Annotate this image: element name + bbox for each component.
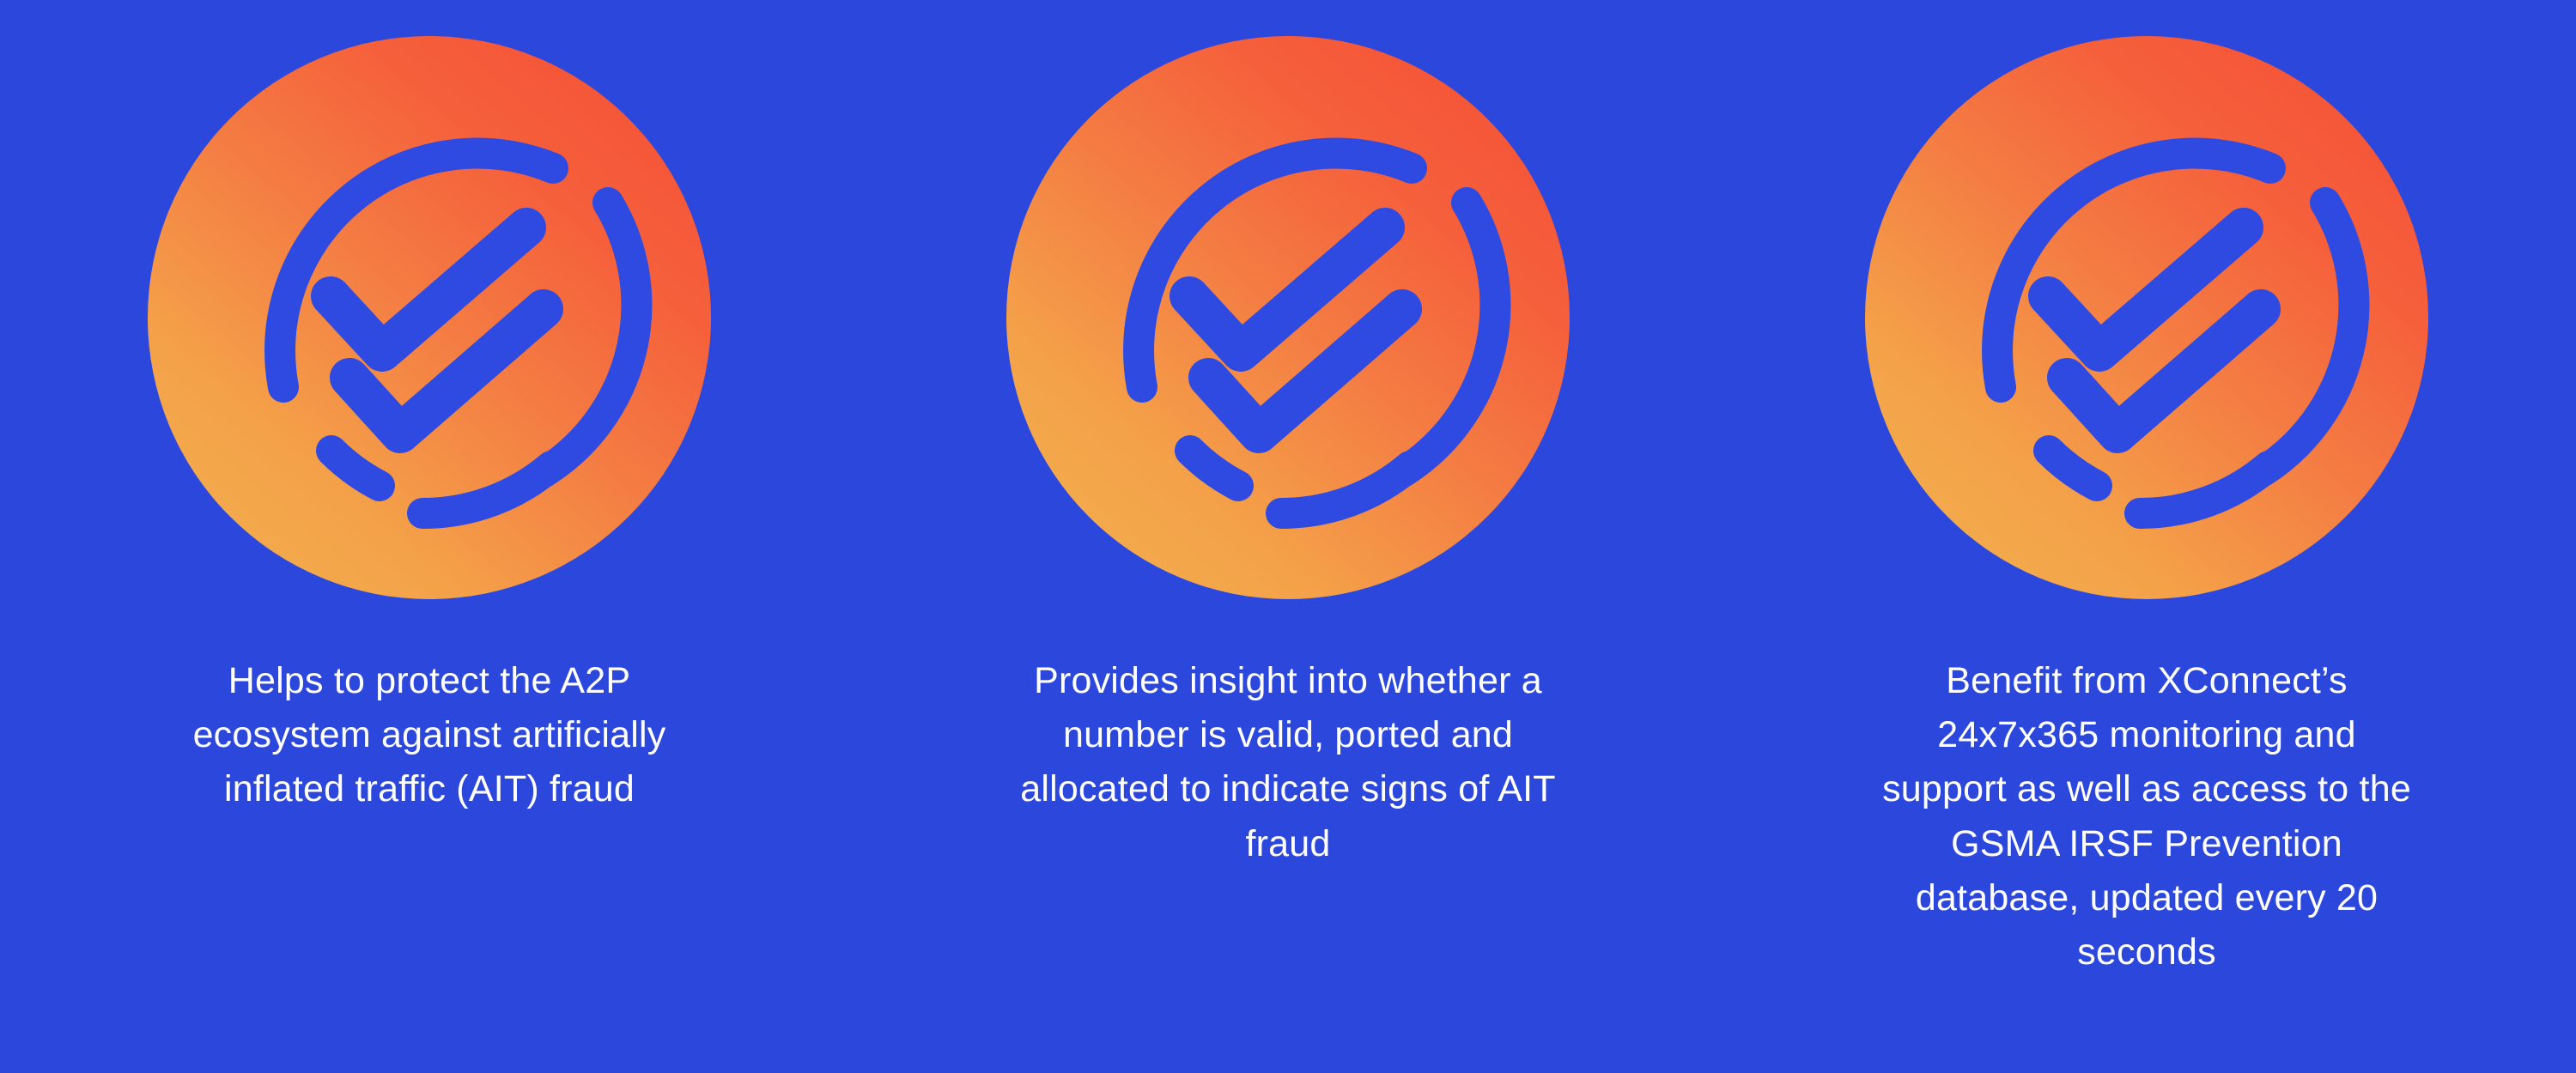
benefits-grid: Helps to protect the A2P ecosystem again… [0,0,2576,1073]
benefit-text-1: Helps to protect the A2P ecosystem again… [155,654,704,817]
benefit-card-2: Provides insight into whether a number i… [859,0,1717,871]
double-check-in-dashed-circle-icon [146,34,713,601]
benefit-card-3: Benefit from XConnect’s 24x7x365 monitor… [1717,0,2576,979]
benefit-card-1: Helps to protect the A2P ecosystem again… [0,0,859,817]
double-check-in-dashed-circle-icon [1863,34,2430,601]
benefit-text-3: Benefit from XConnect’s 24x7x365 monitor… [1846,654,2447,979]
double-check-in-dashed-circle-icon [1005,34,1571,601]
benefit-text-2: Provides insight into whether a number i… [987,654,1589,871]
